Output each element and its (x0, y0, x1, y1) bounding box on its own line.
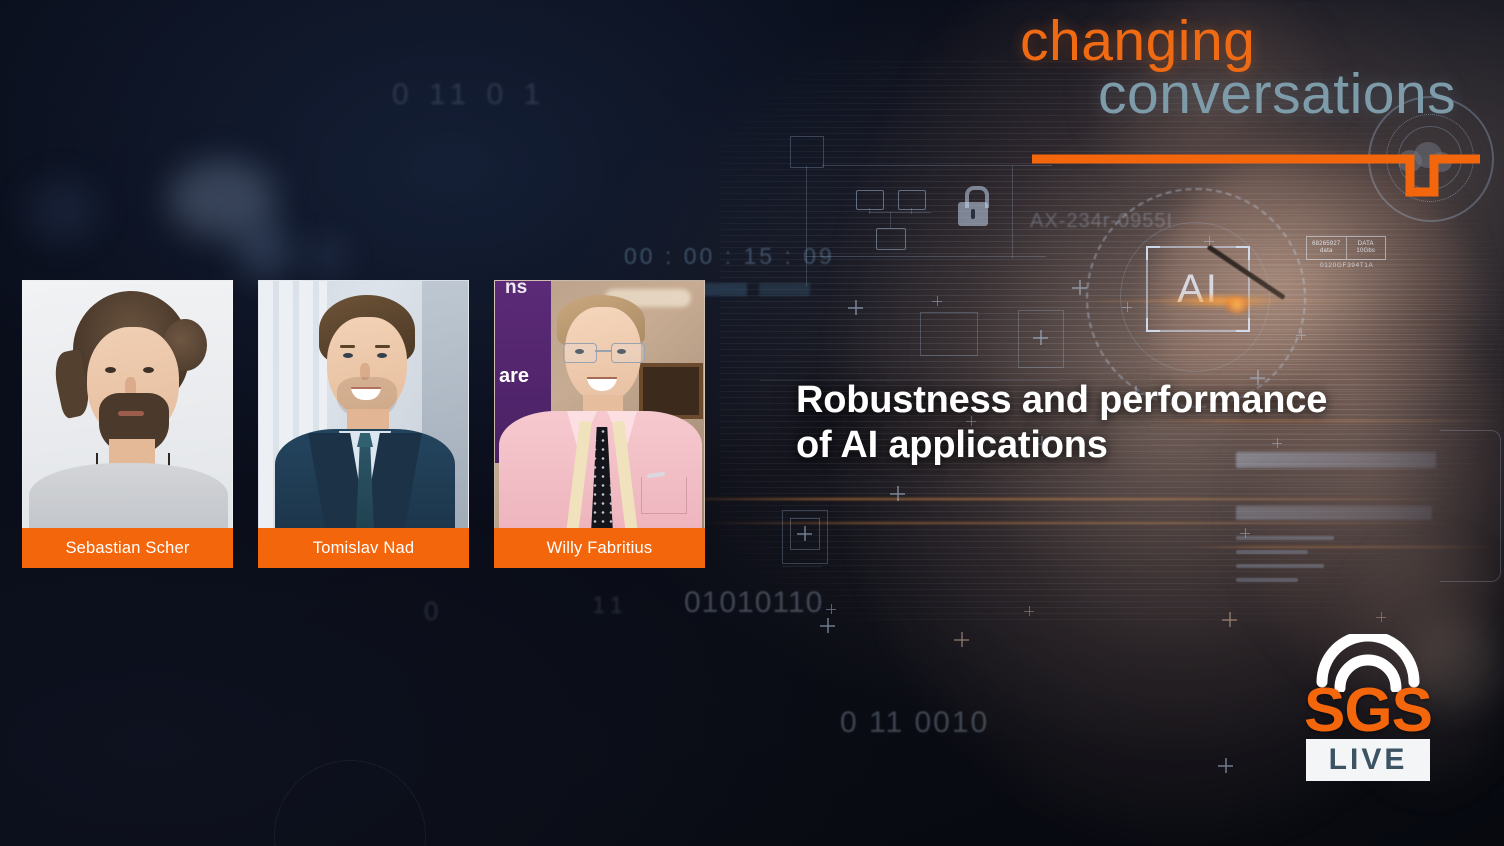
plus-marker-icon (932, 296, 942, 306)
avatar-eye (143, 367, 154, 373)
avatar-banner-text-top: ns (505, 280, 527, 299)
plus-marker-icon (890, 486, 905, 501)
plus-marker-icon (797, 526, 812, 541)
avatar-eyebrow (375, 345, 390, 348)
background-faint-digit-left: 0 (424, 596, 444, 627)
plus-marker-icon (1072, 280, 1087, 295)
chip-label: 10Gbs (1356, 248, 1375, 255)
speaker-card[interactable]: Sebastian Scher (22, 280, 233, 568)
avatar-shirt-pocket (641, 477, 687, 514)
plus-marker-icon (1024, 606, 1034, 616)
hud-panel-bar (1236, 506, 1432, 520)
lock-icon-keyhole (971, 209, 975, 219)
page-title: Robustness and performance of AI applica… (796, 378, 1466, 468)
envelope-icon-flap (920, 312, 976, 354)
hud-connector-line (822, 165, 1052, 166)
hud-connector-line (806, 256, 1046, 257)
speaker-card[interactable]: ns are Willy Fabri (494, 280, 705, 568)
bokeh-blob (236, 222, 292, 278)
plus-marker-icon (1033, 330, 1048, 345)
plus-marker-icon (1222, 612, 1237, 627)
logo-speech-underline-icon (1030, 150, 1482, 224)
speaker-name-bar: Sebastian Scher (22, 528, 233, 568)
network-nodes-icon (898, 190, 926, 210)
presentation-slide: 0 11 0 1 0 11 00 : 00 : 15 : 09 AX-234r-… (0, 0, 1504, 846)
speaker-card[interactable]: Tomislav Nad (258, 280, 469, 568)
ai-box-icon: AI (1146, 246, 1250, 332)
avatar-eye (377, 353, 387, 358)
page-title-line-1: Robustness and performance (796, 378, 1466, 423)
corner-mark (1146, 246, 1160, 260)
plus-marker-icon (954, 632, 969, 647)
corner-mark (1146, 318, 1160, 332)
speaker-name: Tomislav Nad (313, 539, 414, 558)
plus-marker-icon (1122, 302, 1132, 312)
avatar-glasses-bridge (595, 350, 611, 352)
avatar (22, 280, 233, 528)
plus-marker-icon (1296, 330, 1306, 340)
avatar (258, 280, 469, 528)
network-nodes-icon (876, 228, 906, 250)
avatar-glasses-lens (563, 343, 597, 363)
accent-glow-line (700, 522, 1460, 524)
network-link (869, 212, 931, 213)
sgs-live-logo: SGS LIVE (1292, 634, 1444, 781)
hud-small-frame (790, 136, 824, 168)
bokeh-blob (310, 240, 344, 274)
avatar-shirt (29, 463, 228, 528)
speaker-name-bar: Willy Fabritius (494, 528, 705, 568)
plus-marker-icon (1240, 528, 1250, 538)
avatar-glasses-lens (611, 343, 645, 363)
background-timer-readout: 00 : 00 : 15 : 09 (624, 243, 835, 270)
background-binary-1: 01010110 (684, 586, 823, 620)
hud-text-line (1236, 578, 1298, 582)
avatar-eyebrow (340, 345, 355, 348)
hud-connector-line (806, 166, 807, 286)
hud-connector-line (1012, 166, 1013, 258)
data-chip-icon: 68265927 data DATA 10Gbs (1306, 236, 1386, 260)
sgs-wordmark: SGS (1292, 686, 1444, 737)
avatar-eye (105, 367, 116, 373)
hud-tick (782, 566, 822, 567)
page-title-line-2: of AI applications (796, 423, 1466, 468)
speaker-name: Willy Fabritius (547, 539, 653, 558)
plus-marker-icon (848, 300, 863, 315)
hud-text-line (1236, 550, 1308, 554)
logo-line-conversations: conversations (1098, 66, 1482, 123)
bokeh-blob (28, 180, 98, 242)
network-nodes-icon (856, 190, 884, 210)
stylus-tip-glow (1222, 296, 1252, 314)
avatar-glasses (561, 343, 647, 361)
chip-label: data (1320, 248, 1332, 255)
sgs-live-tagline: LIVE (1306, 739, 1430, 781)
hud-text-line (1236, 536, 1334, 540)
plus-marker-icon (1376, 612, 1386, 622)
hud-text-line (1236, 564, 1324, 568)
avatar: ns are (494, 280, 705, 528)
background-faint-digits-top: 0 11 0 1 (392, 78, 546, 112)
plus-marker-icon (1204, 236, 1214, 246)
avatar-eye (343, 353, 353, 358)
network-link (890, 212, 891, 228)
changing-conversations-logo: changing conversations (1020, 14, 1482, 123)
chip-serial-code: 0120GF394T1A (1320, 262, 1373, 269)
network-link (911, 208, 912, 214)
avatar-mouth (118, 411, 144, 416)
plus-marker-icon (1218, 758, 1233, 773)
chip-code: DATA (1358, 241, 1374, 248)
corner-mark (1236, 246, 1250, 260)
background-faint-digits-left: 11 (592, 592, 629, 620)
corner-mark (1236, 318, 1250, 332)
speaker-name: Sebastian Scher (65, 539, 189, 558)
background-binary-2: 0 11 0010 (840, 706, 989, 740)
plus-marker-icon (826, 604, 836, 614)
avatar-banner-text: are (499, 365, 529, 388)
network-link (869, 208, 870, 214)
plus-marker-icon (820, 618, 835, 633)
speaker-name-bar: Tomislav Nad (258, 528, 469, 568)
chip-code: 68265927 (1312, 241, 1340, 248)
accent-glow-line (660, 498, 1450, 500)
